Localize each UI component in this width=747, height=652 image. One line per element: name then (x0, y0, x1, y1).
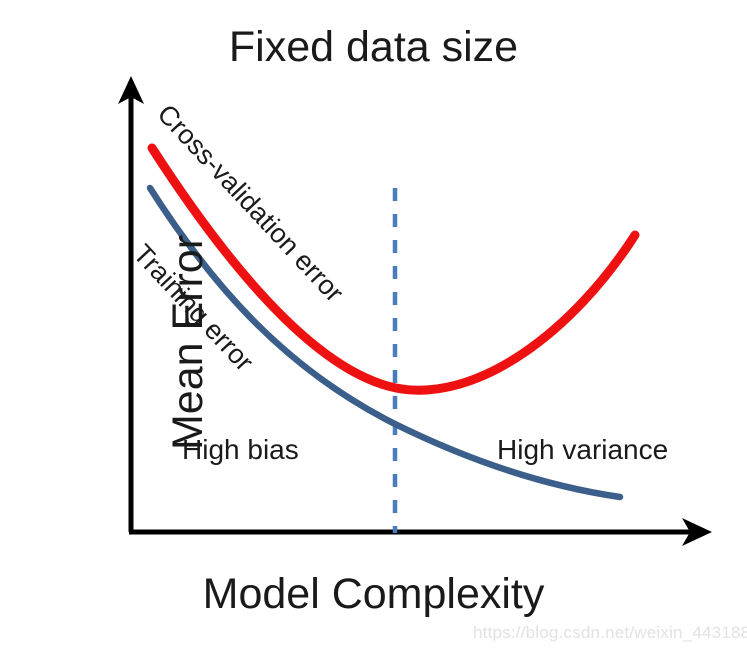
high-bias-label: High bias (182, 436, 299, 464)
x-axis (129, 518, 712, 546)
y-axis (118, 76, 144, 532)
x-axis-label: Model Complexity (0, 573, 747, 616)
chart-title: Fixed data size (0, 26, 747, 69)
plot-canvas (0, 0, 747, 652)
high-variance-label: High variance (497, 436, 668, 464)
source-watermark: https://blog.csdn.net/weixin_44318830 (473, 624, 747, 641)
bias-variance-tradeoff-figure: Fixed data size Mean Error Model Complex… (0, 0, 747, 652)
